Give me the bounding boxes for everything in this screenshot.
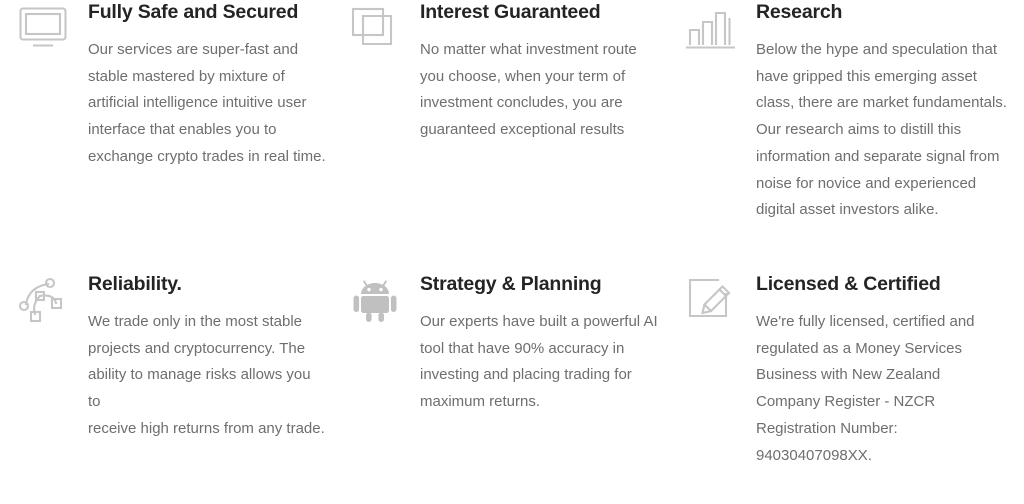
text-line: projects and cryptocurrency. The [88,336,326,363]
text-line: No matter what investment route [420,37,668,64]
feature-title: Strategy & Planning [420,272,668,296]
text-line: tool that have 90% accuracy in [420,336,668,363]
text-line: Our experts have built a powerful AI [420,309,668,336]
text-line: you choose, when your term of [420,64,668,91]
feature-description: Below the hype and speculation that have… [756,37,1020,224]
text-line: 94030407098XX. [756,443,1020,470]
text-line: Registration Number: [756,416,1020,443]
feature-body: Strategy & Planning Our experts have bui… [420,272,678,416]
text-line: stable mastered by mixture of [88,64,326,91]
feature-title: Reliability. [88,272,326,296]
text-line: maximum returns. [420,389,668,416]
text-line: class, there are market fundamentals. [756,90,1020,117]
text-line: artificial intelligence intuitive user [88,90,326,117]
text-line: We're fully licensed, certified and [756,309,1020,336]
text-line: Our research aims to distill this [756,117,1020,144]
text-line: digital asset investors alike. [756,197,1020,224]
feature-card-research: Research Below the hype and speculation … [678,0,1024,272]
feature-card-fully-safe-and-secured: Fully Safe and Secured Our services are … [0,0,340,272]
android-robot-icon [348,272,402,326]
feature-title: Licensed & Certified [756,272,1020,296]
feature-card-reliability: Reliability. We trade only in the most s… [0,272,340,504]
text-line: exchange crypto trades in real time. [88,144,326,171]
feature-body: Reliability. We trade only in the most s… [88,272,340,443]
text-line: ability to manage risks allows you to [88,362,326,415]
bezier-node-icon [16,272,70,326]
feature-card-strategy-and-planning: Strategy & Planning Our experts have bui… [340,272,678,504]
text-line: information and separate signal from [756,144,1020,171]
monitor-icon [16,0,70,54]
text-line: Our services are super-fast and [88,37,326,64]
text-line: noise for novice and experienced [756,171,1020,198]
text-line: interface that enables you to [88,117,326,144]
feature-description: We're fully licensed, certified and regu… [756,309,1020,469]
feature-body: Licensed & Certified We're fully license… [756,272,1024,469]
text-line: investment concludes, you are [420,90,668,117]
text-line: regulated as a Money Services [756,336,1020,363]
feature-card-interest-guaranteed: Interest Guaranteed No matter what inves… [340,0,678,272]
text-line: investing and placing trading for [420,362,668,389]
copy-squares-icon [348,0,402,54]
feature-body: Interest Guaranteed No matter what inves… [420,0,678,144]
bar-chart-icon [684,0,738,54]
feature-body: Fully Safe and Secured Our services are … [88,0,340,171]
feature-description: No matter what investment route you choo… [420,37,668,144]
feature-description: We trade only in the most stable project… [88,309,326,443]
text-line: have gripped this emerging asset [756,64,1020,91]
features-grid: Fully Safe and Secured Our services are … [0,0,1024,504]
feature-card-licensed-and-certified: Licensed & Certified We're fully license… [678,272,1024,504]
text-line: guaranteed exceptional results [420,117,668,144]
feature-description: Our experts have built a powerful AI too… [420,309,668,416]
pencil-edit-icon [684,272,738,326]
text-line: We trade only in the most stable [88,309,326,336]
feature-title: Research [756,0,1020,24]
text-line: receive high returns from any trade. [88,416,326,443]
text-line: Below the hype and speculation that [756,37,1020,64]
feature-body: Research Below the hype and speculation … [756,0,1024,224]
text-line: Company Register - NZCR [756,389,1020,416]
text-line: Business with New Zealand [756,362,1020,389]
feature-description: Our services are super-fast and stable m… [88,37,326,171]
feature-title: Interest Guaranteed [420,0,668,24]
feature-title: Fully Safe and Secured [88,0,326,24]
